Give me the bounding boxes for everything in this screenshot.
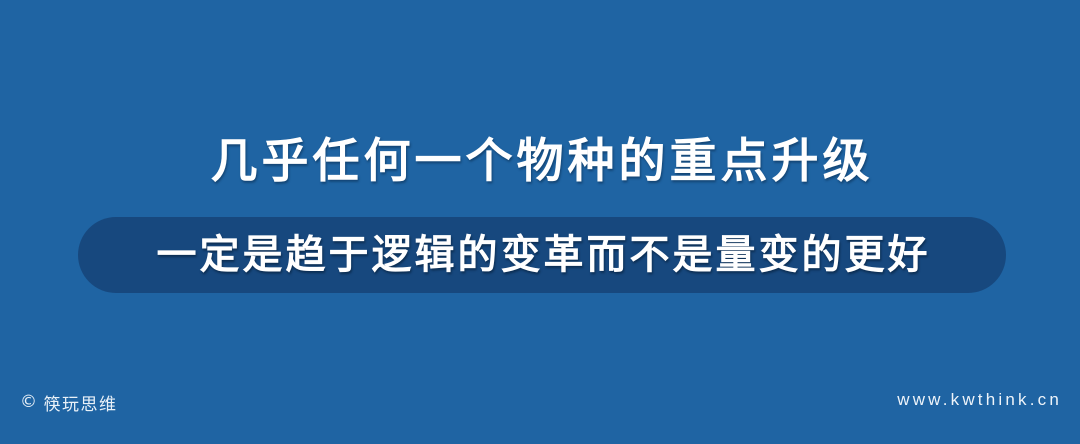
highlight-pill: 一定是趋于逻辑的变革而不是量变的更好 [78, 217, 1006, 293]
brand-credit: © 筷玩思维 [20, 390, 118, 415]
headline-line-1: 几乎任何一个物种的重点升级 [207, 137, 874, 189]
site-url: www.kwthink.cn [897, 390, 1062, 410]
brand-name: 筷玩思维 [44, 390, 118, 415]
quote-poster: 几乎任何一个物种的重点升级 一定是趋于逻辑的变革而不是量变的更好 © 筷玩思维 … [0, 0, 1080, 444]
headline-row: 几乎任何一个物种的重点升级 [0, 132, 1080, 194]
headline-line-2: 一定是趋于逻辑的变革而不是量变的更好 [154, 233, 931, 277]
copyright-icon: © [20, 394, 39, 411]
poster-footer: © 筷玩思维 www.kwthink.cn [0, 384, 1080, 444]
